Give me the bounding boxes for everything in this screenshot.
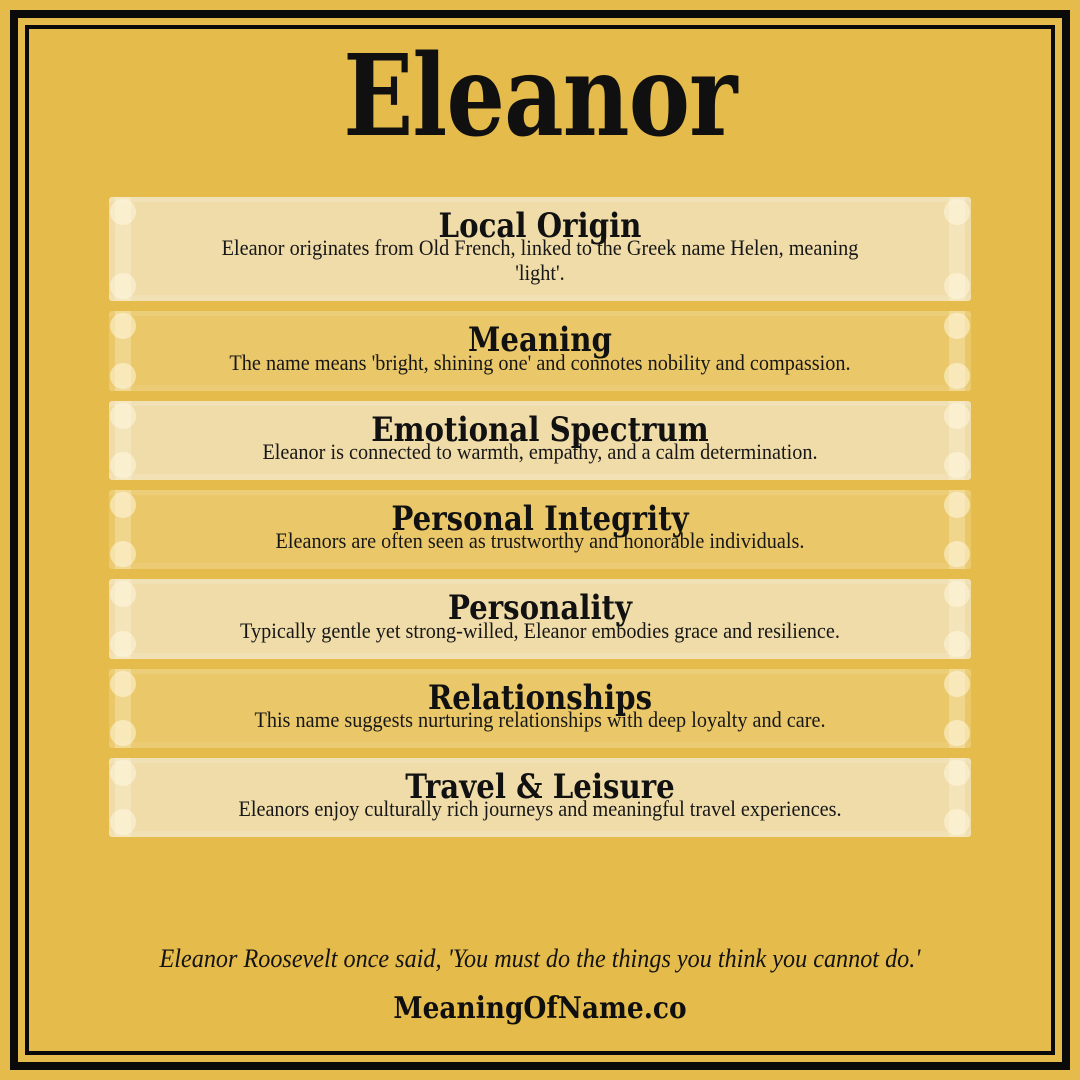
card-title: Meaning [219,325,861,356]
card-left-edge-strip [115,758,131,837]
card-title: Personality [219,593,861,624]
name-meaning-card: Eleanor Local OriginEleanor originates f… [0,0,1080,1080]
knob-top-right-icon [944,403,970,429]
knob-top-right-icon [944,199,970,225]
knob-top-right-icon [944,313,970,339]
knob-bottom-left-icon [110,273,136,299]
attribute-card: Local OriginEleanor originates from Old … [109,197,971,301]
knob-bottom-left-icon [110,720,136,746]
knob-bottom-right-icon [944,809,970,835]
knob-top-right-icon [944,760,970,786]
card-right-edge-strip [949,579,965,658]
card-right-edge-strip [949,669,965,748]
card-left-edge-strip [115,197,131,301]
card-right-edge-strip [949,401,965,480]
card-right-edge-strip [949,311,965,390]
knob-bottom-right-icon [944,631,970,657]
attribute-card-list: Local OriginEleanor originates from Old … [109,197,971,837]
card-title: Relationships [219,683,861,714]
attribute-card: MeaningThe name means 'bright, shining o… [109,311,971,390]
knob-top-right-icon [944,581,970,607]
attribute-card: Personal IntegrityEleanors are often see… [109,490,971,569]
knob-top-left-icon [110,403,136,429]
card-left-edge-strip [115,579,131,658]
knob-top-left-icon [110,492,136,518]
knob-top-right-icon [944,671,970,697]
knob-bottom-right-icon [944,452,970,478]
knob-bottom-right-icon [944,273,970,299]
knob-top-left-icon [110,671,136,697]
card-left-edge-strip [115,490,131,569]
knob-top-left-icon [110,581,136,607]
footer-quote: Eleanor Roosevelt once said, 'You must d… [103,943,977,974]
knob-top-left-icon [110,760,136,786]
knob-bottom-right-icon [944,720,970,746]
knob-top-left-icon [110,199,136,225]
attribute-card: RelationshipsThis name suggests nurturin… [109,669,971,748]
content-area: Eleanor Local OriginEleanor originates f… [29,29,1051,1051]
card-title: Travel & Leisure [219,772,861,803]
card-right-edge-strip [949,197,965,301]
knob-bottom-left-icon [110,452,136,478]
attribute-card: Emotional SpectrumEleanor is connected t… [109,401,971,480]
knob-top-right-icon [944,492,970,518]
knob-top-left-icon [110,313,136,339]
footer: Eleanor Roosevelt once said, 'You must d… [70,943,1010,1051]
card-left-edge-strip [115,401,131,480]
knob-bottom-left-icon [110,363,136,389]
card-left-edge-strip [115,311,131,390]
knob-bottom-left-icon [110,631,136,657]
knob-bottom-left-icon [110,809,136,835]
card-right-edge-strip [949,490,965,569]
card-left-edge-strip [115,669,131,748]
card-title: Personal Integrity [219,504,861,535]
attribute-card: PersonalityTypically gentle yet strong-w… [109,579,971,658]
knob-bottom-left-icon [110,541,136,567]
card-title: Emotional Spectrum [219,415,861,446]
brand-name: MeaningOfName.co [126,992,953,1025]
knob-bottom-right-icon [944,363,970,389]
card-right-edge-strip [949,758,965,837]
page-title: Eleanor [121,29,959,153]
knob-bottom-right-icon [944,541,970,567]
card-title: Local Origin [219,211,861,242]
attribute-card: Travel & LeisureEleanors enjoy culturall… [109,758,971,837]
